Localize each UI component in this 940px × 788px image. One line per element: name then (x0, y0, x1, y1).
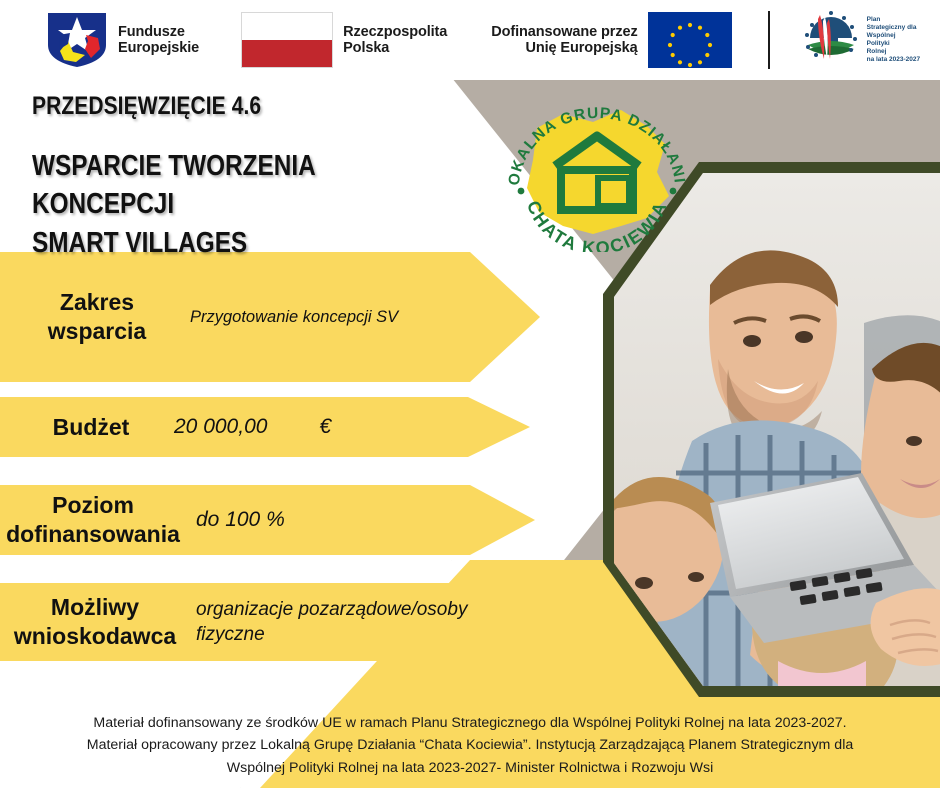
measure-number: PRZEDSIĘWZIĘCIE 4.6 (32, 92, 393, 121)
logo-rzeczpospolita-polska: Rzeczpospolita Polska (241, 12, 447, 68)
row-mozliwy-wnioskodawca: Możliwy wnioskodawca organizacje pozarzą… (0, 583, 540, 661)
rzeczpospolita-polska-label: Rzeczpospolita Polska (343, 24, 447, 56)
logo-divider (768, 11, 770, 69)
logo-ps-wpr: Plan Strategiczny dla Wspólnej Polityki … (800, 9, 920, 72)
row-budzet-label: Budżet (16, 414, 166, 441)
row-budzet-value: 20 000,00 (174, 415, 267, 439)
eu-flag-icon (648, 12, 732, 68)
fundusze-europejskie-label: Fundusze Europejskie (118, 24, 199, 56)
row-zakres-wsparcia: Zakres wsparcia Przygotowanie koncepcji … (0, 252, 540, 382)
ps-wpr-icon (800, 9, 862, 72)
footer-disclaimer: Materiał dofinansowany ze środków UE w r… (0, 712, 940, 779)
row-budzet: Budżet 20 000,00 € (0, 397, 540, 457)
ps-wpr-label: Plan Strategiczny dla Wspólnej Polityki … (867, 16, 920, 64)
row-zakres-wsparcia-value: Przygotowanie koncepcji SV (190, 308, 398, 327)
title-block: PRZEDSIĘWZIĘCIE 4.6 WSPARCIE TWORZENIA K… (32, 92, 462, 262)
row-zakres-wsparcia-label: Zakres wsparcia (22, 288, 172, 347)
logo-fundusze-europejskie: Fundusze Europejskie (46, 11, 199, 69)
lgd-chata-kociewia-logo: LOKALNA GRUPA DZIAŁANIA CHATA KOCIEWIA (497, 92, 697, 252)
row-poziom-dofinansowania: Poziom dofinansowania do 100 % (0, 485, 540, 555)
page-title: WSPARCIE TWORZENIA KONCEPCJI SMART VILLA… (32, 147, 393, 262)
row-poziom-dofinansowania-value: do 100 % (196, 508, 285, 532)
poster-root: Fundusze Europejskie Rzeczpospolita Pols… (0, 0, 940, 788)
details-rows: Zakres wsparcia Przygotowanie koncepcji … (0, 252, 600, 661)
fundusze-europejskie-icon (46, 11, 108, 69)
row-poziom-dofinansowania-label: Poziom dofinansowania (2, 491, 184, 548)
logo-unia-europejska: Dofinansowane przez Unię Europejską (491, 12, 731, 68)
unia-europejska-label: Dofinansowane przez Unię Europejską (491, 24, 637, 56)
row-mozliwy-wnioskodawca-value: organizacje pozarządowe/osoby fizyczne (196, 597, 496, 647)
funding-logo-bar: Fundusze Europejskie Rzeczpospolita Pols… (0, 0, 940, 80)
row-mozliwy-wnioskodawca-label: Możliwy wnioskodawca (0, 593, 190, 650)
poland-flag-icon (241, 12, 333, 68)
row-budzet-currency: € (319, 415, 331, 439)
